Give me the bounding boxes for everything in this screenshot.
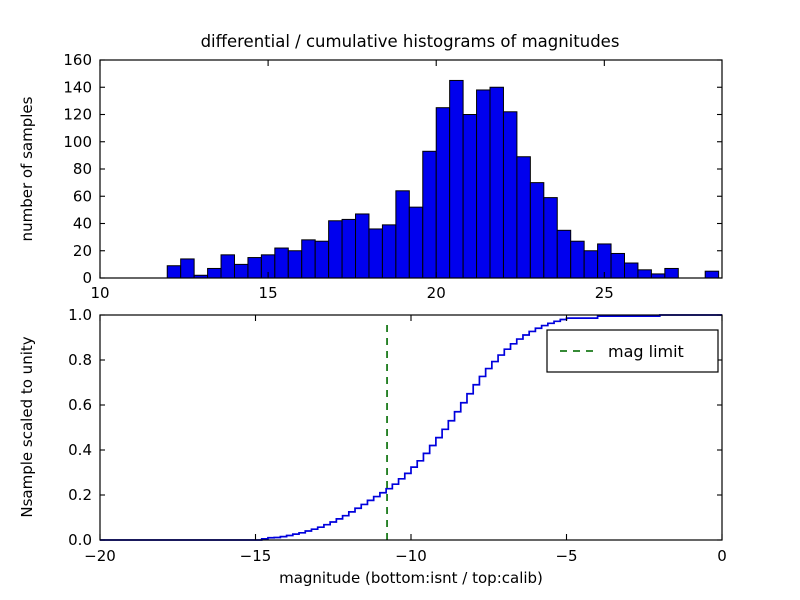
histogram-bar <box>221 255 234 278</box>
histogram-bar <box>503 112 516 278</box>
top-y-tick-label: 40 <box>73 215 92 233</box>
histogram-bar <box>571 241 584 278</box>
top-y-tick-label: 20 <box>73 242 92 260</box>
histogram-bar <box>248 258 261 278</box>
top-y-tick-label: 140 <box>63 78 92 96</box>
histogram-bar <box>382 225 395 278</box>
histogram-bar <box>665 268 678 278</box>
histogram-bar <box>409 207 422 278</box>
histogram-bar <box>356 214 369 278</box>
bottom-y-tick-label: 0.6 <box>68 396 92 414</box>
histogram-bar <box>288 251 301 278</box>
top-x-tick-labels: 10152025 <box>90 284 613 302</box>
histogram-bar <box>638 270 651 278</box>
histogram-bar <box>275 248 288 278</box>
top-x-tick-label: 15 <box>259 284 278 302</box>
histogram-bar <box>450 80 463 278</box>
bottom-x-axis-label: magnitude (bottom:isnt / top:calib) <box>279 569 543 587</box>
histogram-bar <box>181 259 194 278</box>
histogram-bar <box>517 157 530 278</box>
top-y-tick-label: 120 <box>63 106 92 124</box>
bottom-x-tick-labels: −20−15−10−50 <box>84 547 727 565</box>
bottom-y-tick-labels: 0.00.20.40.60.81.0 <box>68 306 92 549</box>
top-y-axis-label: number of samples <box>18 96 36 241</box>
histogram-bar <box>611 253 624 278</box>
histogram-bar <box>436 108 449 278</box>
histogram-bar <box>490 87 503 278</box>
histogram-bar <box>625 263 638 278</box>
histogram-bar <box>315 241 328 278</box>
top-y-tick-label: 60 <box>73 187 92 205</box>
bottom-y-tick-label: 0.4 <box>68 441 92 459</box>
bottom-x-tick-label: −10 <box>395 547 427 565</box>
bottom-x-tick-label: 0 <box>717 547 727 565</box>
bottom-y-tick-label: 0.8 <box>68 351 92 369</box>
bottom-y-tick-label: 1.0 <box>68 306 92 324</box>
legend-label-mag-limit: mag limit <box>608 342 684 361</box>
histogram-bar <box>329 221 342 278</box>
histogram-bar <box>544 198 557 278</box>
bottom-x-tick-label: −20 <box>84 547 116 565</box>
bottom-x-tick-label: −15 <box>240 547 272 565</box>
histogram-bar <box>208 268 221 278</box>
histogram-bar <box>423 151 436 278</box>
histogram-bar <box>302 240 315 278</box>
histogram-bar <box>167 266 180 278</box>
top-x-tick-label: 10 <box>90 284 109 302</box>
histogram-bar <box>705 271 718 278</box>
histogram-bar <box>342 219 355 278</box>
page-title: differential / cumulative histograms of … <box>201 32 620 51</box>
histogram-bar <box>530 183 543 278</box>
histogram-bar <box>369 229 382 278</box>
histogram-bar <box>396 191 409 278</box>
histogram-bar <box>651 274 664 278</box>
bottom-x-tick-label: −5 <box>555 547 577 565</box>
histogram-bar <box>584 251 597 278</box>
top-y-tick-label: 100 <box>63 133 92 151</box>
histogram-bar <box>234 264 247 278</box>
histogram-bar <box>463 115 476 279</box>
top-x-tick-label: 20 <box>427 284 446 302</box>
figure-canvas: differential / cumulative histograms of … <box>0 0 800 600</box>
top-y-tick-label: 80 <box>73 160 92 178</box>
bottom-y-tick-label: 0.2 <box>68 486 92 504</box>
bottom-y-axis-label: Nsample scaled to unity <box>18 336 36 517</box>
top-y-tick-label: 160 <box>63 51 92 69</box>
histogram-bar <box>557 230 570 278</box>
matplotlib-figure: differential / cumulative histograms of … <box>0 0 800 600</box>
top-y-tick-labels: 020406080100120140160 <box>63 51 92 287</box>
bottom-axes: 0.00.20.40.60.81.0 −20−15−10−50 Nsample … <box>18 306 727 587</box>
histogram-bar <box>477 90 490 278</box>
histogram-bars <box>167 80 718 278</box>
legend[interactable]: mag limit <box>547 330 718 372</box>
top-axes: 020406080100120140160 10152025 number of… <box>18 51 722 302</box>
top-x-tick-label: 25 <box>595 284 614 302</box>
